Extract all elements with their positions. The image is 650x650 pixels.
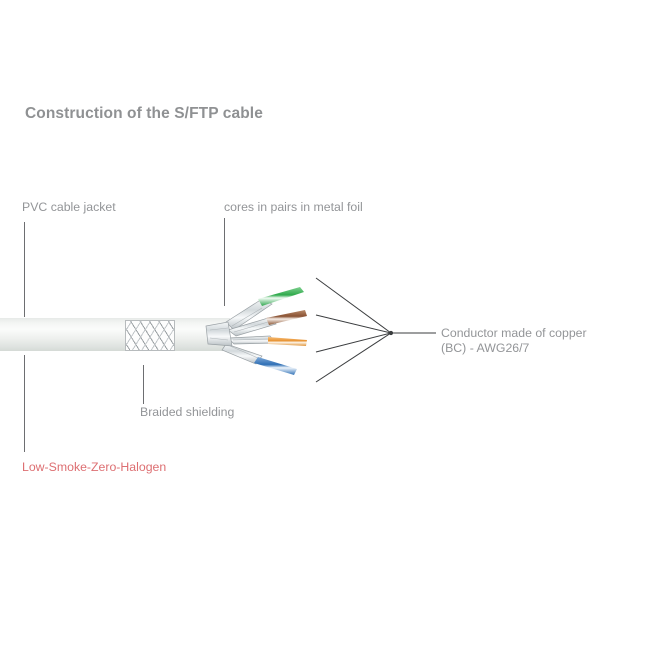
diagram-canvas: Construction of the S/FTP cable <box>0 0 650 650</box>
brown-core <box>266 310 307 325</box>
label-pvc-cable-jacket: PVC cable jacket <box>22 200 116 215</box>
conductor-leader-lines <box>316 278 436 382</box>
foil-wrapped-pairs-graphic <box>206 299 276 364</box>
label-braided-shielding: Braided shielding <box>140 405 234 420</box>
leader-cores-in-foil <box>224 218 225 306</box>
leader-pvc-jacket <box>24 222 25 317</box>
leader-lszh <box>24 355 25 452</box>
orange-core <box>268 337 307 346</box>
green-core <box>258 287 304 306</box>
blue-core <box>254 357 297 375</box>
label-low-smoke-zero-halogen: Low-Smoke-Zero-Halogen <box>22 460 166 475</box>
leader-braided-shielding <box>143 365 144 404</box>
label-conductor-line2: (BC) - AWG26/7 <box>441 341 529 356</box>
label-conductor-line1: Conductor made of copper <box>441 326 587 341</box>
core-conductors-graphic <box>254 287 307 375</box>
label-cores-in-foil: cores in pairs in metal foil <box>224 200 363 215</box>
cable-vector-art <box>0 0 650 650</box>
